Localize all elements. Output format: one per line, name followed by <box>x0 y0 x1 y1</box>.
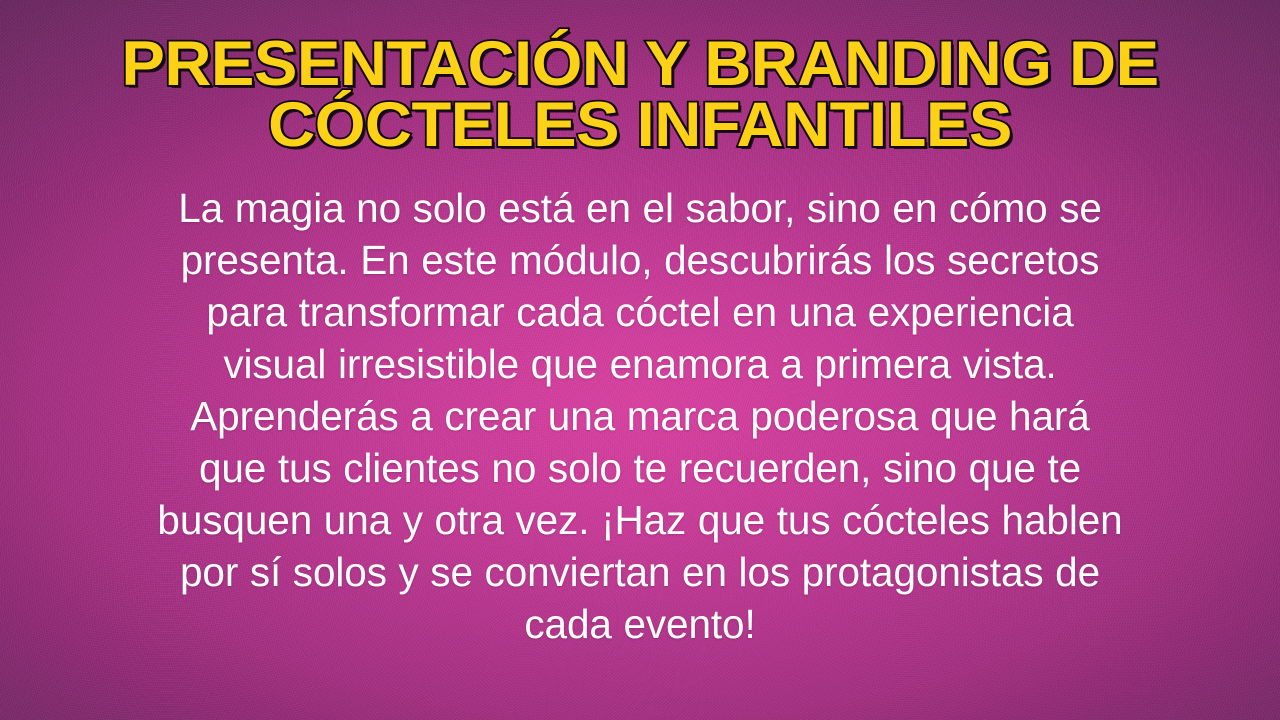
title-line-2: CÓCTELES INFANTILES <box>24 95 1256 156</box>
body-line-4: visual irresistible que enamora a primer… <box>33 338 1248 390</box>
slide-content: PRESENTACIÓN Y BRANDING DE CÓCTELES INFA… <box>0 0 1280 720</box>
slide-body-paragraph: La magia no solo está en el sabor, sino … <box>33 182 1248 650</box>
body-line-1: La magia no solo está en el sabor, sino … <box>33 182 1248 234</box>
body-line-2: presenta. En este módulo, descubrirás lo… <box>33 234 1248 286</box>
body-line-3: para transformar cada cóctel en una expe… <box>33 286 1248 338</box>
body-line-9: cada evento! <box>33 598 1248 650</box>
slide-canvas: PRESENTACIÓN Y BRANDING DE CÓCTELES INFA… <box>0 0 1280 720</box>
body-line-7: busquen una y otra vez. ¡Haz que tus cóc… <box>33 494 1248 546</box>
title-line-1: PRESENTACIÓN Y BRANDING DE <box>24 34 1256 95</box>
body-line-8: por sí solos y se conviertan en los prot… <box>33 546 1248 598</box>
body-line-6: que tus clientes no solo te recuerden, s… <box>33 442 1248 494</box>
body-line-5: Aprenderás a crear una marca poderosa qu… <box>33 390 1248 442</box>
slide-title: PRESENTACIÓN Y BRANDING DE CÓCTELES INFA… <box>24 34 1256 156</box>
